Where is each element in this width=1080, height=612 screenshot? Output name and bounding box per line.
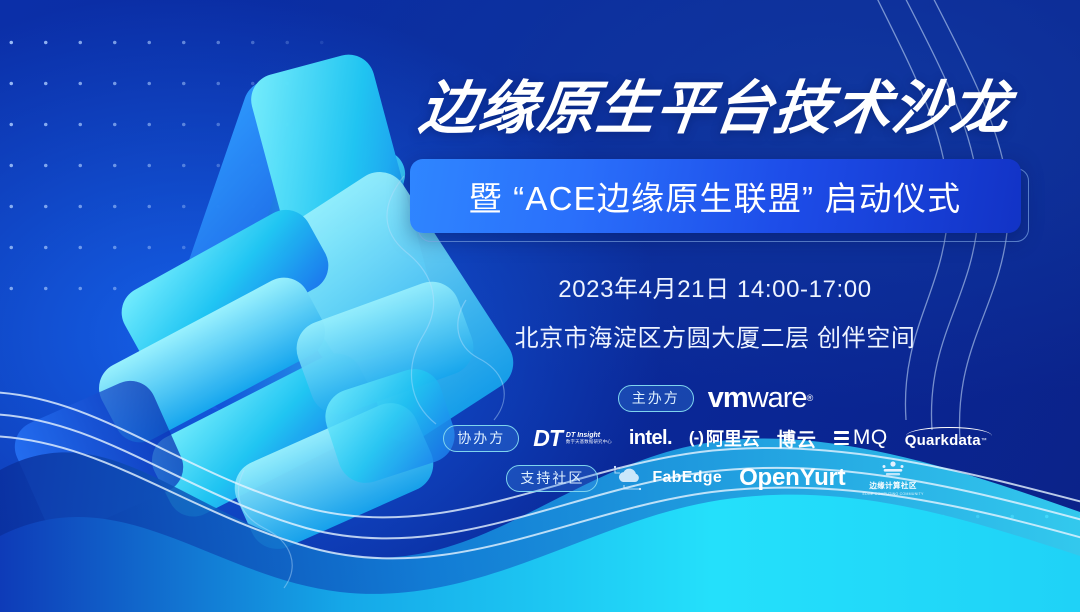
coorganizer-logos: DT DT Insight 数字天基数据研究中心 intel. (-) 阿里云 …	[533, 425, 987, 452]
sponsor-row-organizer: 主办方 vmware®	[618, 383, 812, 413]
quarkdata-logo: Quarkdata™	[905, 427, 987, 449]
fabedge-logo: FabEdge	[612, 464, 722, 492]
event-datetime: 2023年4月21日 14:00-17:00	[515, 269, 916, 304]
community-logos: FabEdge OpenYurt 边缘计算社区	[612, 460, 923, 496]
subtitle-banner: 暨 “ACE边缘原生联盟” 启动仪式	[410, 159, 1021, 233]
aliyun-wordmark: 阿里云	[706, 425, 760, 451]
edge-community-name: 边缘计算社区	[869, 480, 916, 491]
sponsor-label-coorganizer: 协办方	[443, 425, 519, 452]
event-poster: 边缘原生平台技术沙龙 暨 “ACE边缘原生联盟” 启动仪式 2023年4月21日…	[0, 0, 1080, 612]
vmware-logo-vm: vm	[708, 382, 748, 415]
openyurt-logo: OpenYurt	[739, 464, 845, 492]
event-location: 北京市海淀区方圆大厦二层 创伴空间	[515, 318, 916, 353]
page-title: 边缘原生平台技术沙龙	[416, 78, 1013, 138]
dt-insight-mark: DT	[533, 425, 562, 452]
dt-insight-sub-cn: 数字天基数据研究中心	[566, 440, 612, 445]
aliyun-mark: (-)	[689, 428, 703, 448]
sponsor-label-community: 支持社区	[506, 465, 598, 492]
vmware-logo-ware: ware	[748, 382, 807, 415]
edge-community-emblem-icon	[881, 460, 905, 479]
dt-insight-subtext: DT Insight 数字天基数据研究中心	[566, 432, 612, 444]
vmware-registered-mark: ®	[807, 393, 813, 403]
dot-grid-top-left	[0, 22, 324, 312]
organizer-logos: vmware®	[708, 382, 812, 415]
dt-insight-logo: DT DT Insight 数字天基数据研究中心	[533, 425, 612, 452]
quarkdata-arc-icon	[906, 427, 992, 436]
emq-bars-icon	[834, 431, 849, 445]
intel-logo: intel.	[629, 427, 672, 450]
banner-fill: 暨 “ACE边缘原生联盟” 启动仪式	[410, 159, 1021, 233]
edge-community-name-en: EDGE COMPUTING COMMUNITY	[862, 492, 923, 496]
sponsor-label-organizer: 主办方	[618, 385, 694, 412]
edge-community-logo: 边缘计算社区 EDGE COMPUTING COMMUNITY	[862, 460, 923, 496]
subtitle-text: 暨 “ACE边缘原生联盟” 启动仪式	[469, 172, 962, 220]
fabedge-wordmark: FabEdge	[652, 469, 722, 487]
sponsor-section: 主办方 vmware® 协办方 DT DT Insight 数字天基数据研究中心	[392, 383, 1038, 493]
fabedge-cloud-icon	[612, 464, 646, 492]
vmware-logo: vmware®	[708, 382, 812, 415]
sponsor-row-community: 支持社区 FabEdge	[506, 463, 923, 493]
event-meta: 2023年4月21日 14:00-17:00 北京市海淀区方圆大厦二层 创伴空间	[515, 269, 916, 353]
boyun-logo: 博云	[777, 425, 817, 452]
poster-content: 边缘原生平台技术沙龙 暨 “ACE边缘原生联盟” 启动仪式 2023年4月21日…	[392, 0, 1080, 612]
emq-logo: MQ	[834, 426, 888, 450]
aliyun-logo: (-) 阿里云	[689, 425, 760, 451]
sponsor-row-coorganizer: 协办方 DT DT Insight 数字天基数据研究中心 intel. (-) …	[443, 423, 987, 453]
quarkdata-tm-mark: ™	[981, 438, 987, 444]
emq-wordmark: MQ	[853, 426, 888, 450]
